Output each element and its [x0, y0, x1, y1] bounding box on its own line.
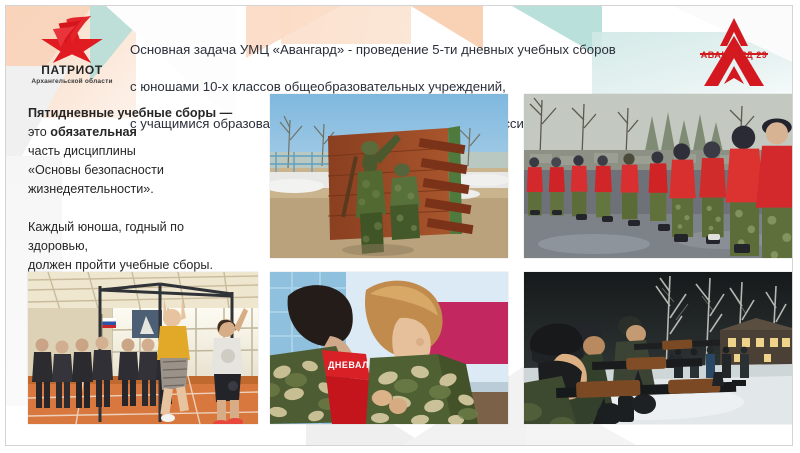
left-text-line-1: Пятидневные учебные сборы —	[28, 104, 260, 123]
photo-rifle-aiming-snow	[524, 272, 792, 424]
patriot-logo-title: ПАТРИОТ	[22, 63, 122, 77]
slide-root: ПАТРИОТ Архангельской области Основная з…	[0, 0, 800, 453]
patriot-logo: ПАТРИОТ Архангельской области	[22, 14, 122, 94]
left-text-line-7: здоровью,	[28, 237, 260, 256]
left-text-line-1-bold: Пятидневные учебные сборы —	[28, 106, 232, 120]
slide-frame: ПАТРИОТ Архангельской области Основная з…	[5, 5, 793, 446]
left-text-line-3: часть дисциплины	[28, 142, 260, 161]
left-text-line-2-prefix: это	[28, 125, 50, 139]
header-title-line-1: Основная задача УМЦ «Авангард» - проведе…	[130, 41, 705, 60]
slide-header: ПАТРИОТ Архангельской области Основная з…	[6, 6, 792, 98]
left-text-line-2-bold: обязательная	[50, 125, 137, 139]
patriot-logo-subtitle: Архангельской области	[22, 78, 122, 85]
left-text-line-5: жизнедеятельности».	[28, 180, 260, 199]
left-text-spacer	[28, 199, 260, 218]
avangard-logo: АВАНГАРД 29	[686, 12, 782, 94]
photo-armband-dnevalny: ДНЕВАЛЬНЫЙ	[270, 272, 508, 424]
avangard-logo-label: АВАНГАРД 29	[686, 50, 782, 60]
left-text-line-4: «Основы безопасности	[28, 161, 260, 180]
photo-gym-pullups	[28, 272, 258, 424]
left-text-line-2: это обязательная	[28, 123, 260, 142]
red-star-icon	[22, 14, 122, 62]
left-text-block: Пятидневные учебные сборы — это обязател…	[28, 104, 260, 275]
photo-formation-red-jackets	[524, 94, 792, 258]
left-text-line-6: Каждый юноша, годный по	[28, 218, 260, 237]
photo-obstacle-wall	[270, 94, 508, 258]
